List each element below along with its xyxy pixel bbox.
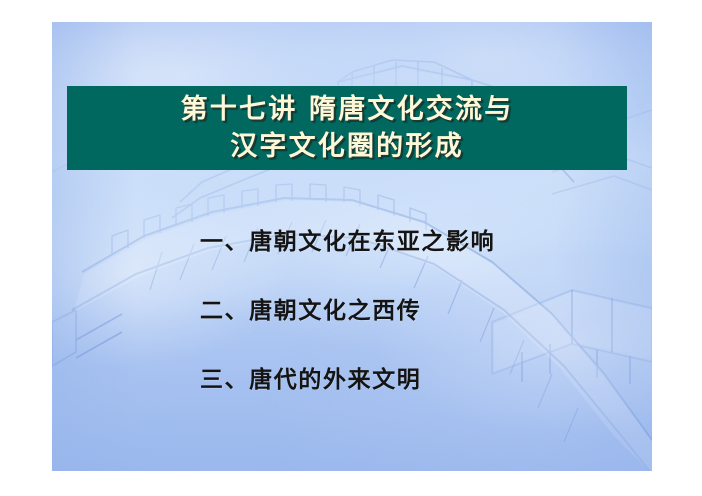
slide-page: 第十七讲 隋唐文化交流与 汉字文化圈的形成 一、唐朝文化在东亚之影响 二、唐朝文… <box>0 0 702 496</box>
slide-title-banner: 第十七讲 隋唐文化交流与 汉字文化圈的形成 <box>67 86 627 170</box>
slide-outline-list: 一、唐朝文化在东亚之影响 二、唐朝文化之西传 三、唐代的外来文明 <box>200 230 630 391</box>
outline-item-1: 一、唐朝文化在东亚之影响 <box>200 230 630 253</box>
presentation-slide: 第十七讲 隋唐文化交流与 汉字文化圈的形成 一、唐朝文化在东亚之影响 二、唐朝文… <box>52 22 652 471</box>
slide-title-line-1: 第十七讲 隋唐文化交流与 <box>181 91 514 128</box>
outline-item-2: 二、唐朝文化之西传 <box>200 299 630 322</box>
outline-item-3: 三、唐代的外来文明 <box>200 368 630 391</box>
slide-title-line-2: 汉字文化圈的形成 <box>230 128 464 165</box>
